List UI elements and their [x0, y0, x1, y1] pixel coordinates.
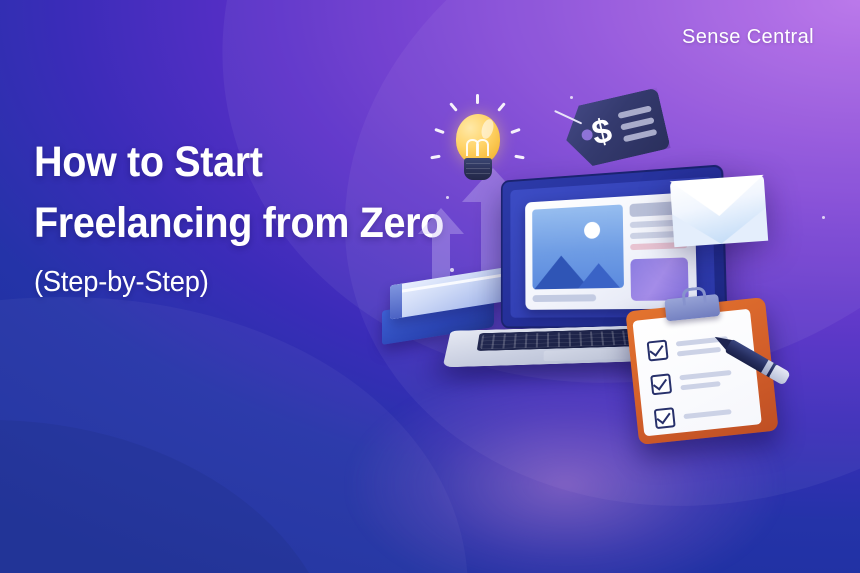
sun-shape — [584, 222, 600, 239]
bulb-ray — [434, 128, 444, 134]
bulb-base — [464, 158, 492, 180]
checklist-text — [683, 409, 731, 419]
poster-canvas: Sense Central How to Start Freelancing f… — [0, 0, 860, 573]
checkbox-checked-icon — [654, 407, 676, 429]
bulb-ray — [430, 155, 440, 160]
bulb-filament — [466, 139, 490, 157]
bulb-ray — [449, 102, 458, 112]
checklist-item — [650, 367, 733, 395]
clipboard-paper — [632, 309, 761, 437]
bulb-ray — [497, 102, 506, 112]
lightbulb-icon — [432, 94, 522, 204]
checklist-line — [680, 381, 720, 390]
bulb-ray — [510, 128, 520, 134]
bulb-ray — [514, 155, 524, 160]
background-swoosh-4 — [0, 420, 340, 573]
brand-logo: Sense Central — [682, 26, 814, 49]
envelope-flap — [670, 175, 766, 219]
checkbox-checked-icon — [650, 373, 672, 395]
checklist-line — [679, 369, 731, 379]
illustration: $ — [360, 80, 860, 480]
checklist-line — [677, 346, 721, 356]
checklist-item — [654, 401, 733, 429]
price-tag-icon: $ — [559, 88, 670, 171]
mockup-caption-bar — [533, 294, 596, 302]
mountain-shape — [578, 263, 620, 289]
bulb-ray — [476, 94, 479, 104]
checkbox-checked-icon — [647, 340, 669, 362]
mockup-cta-button — [630, 257, 688, 300]
clipboard-icon — [625, 297, 778, 445]
checklist-line — [683, 409, 731, 419]
checklist-text — [679, 369, 732, 389]
image-placeholder-icon — [532, 204, 624, 289]
mockup-left-column — [532, 204, 624, 302]
envelope-icon — [670, 175, 768, 247]
